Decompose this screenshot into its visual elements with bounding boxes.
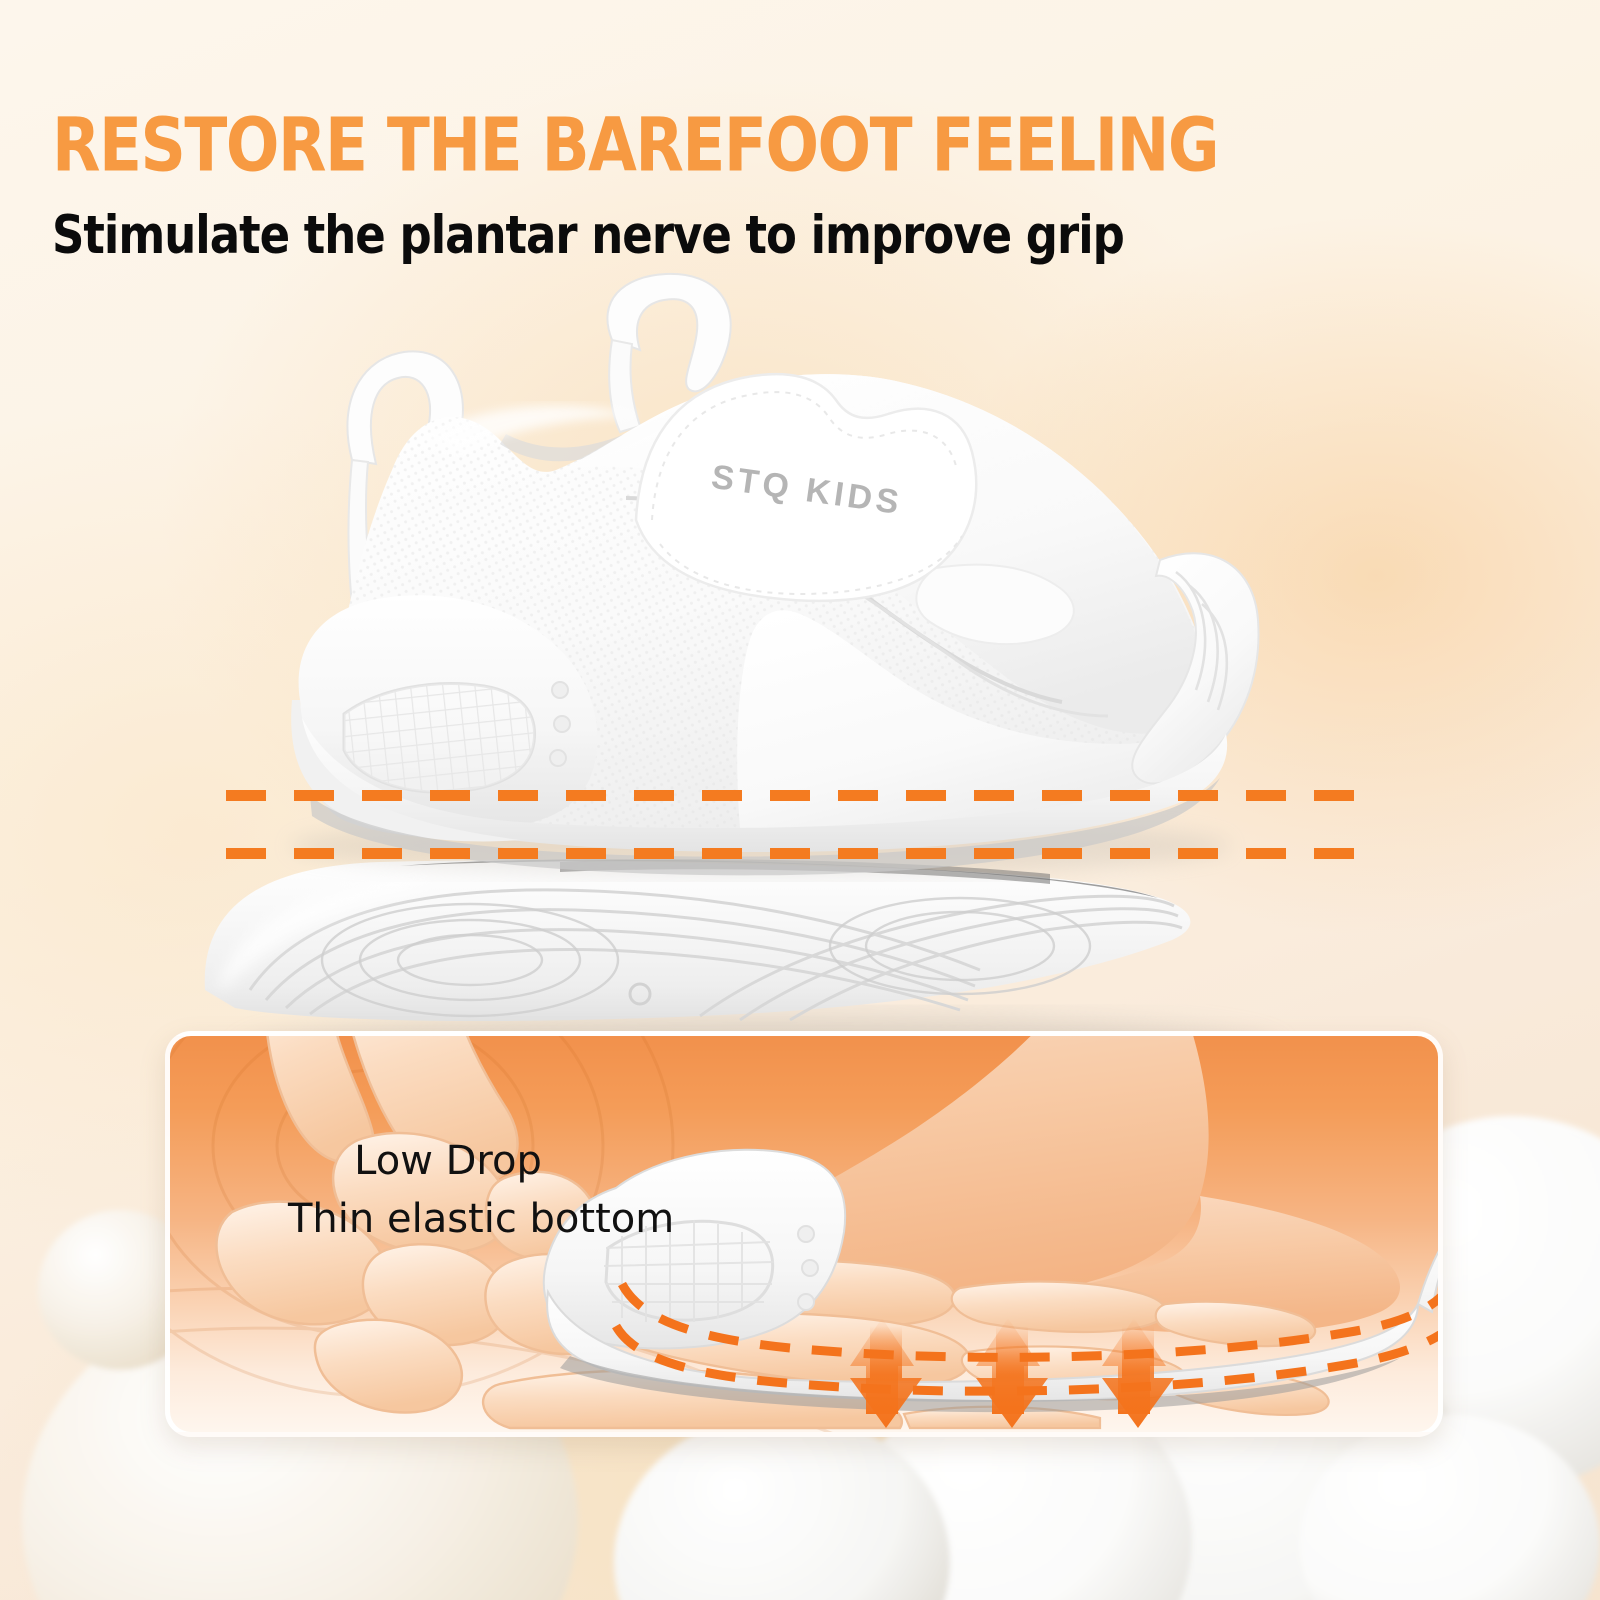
- arrow-down-icon: [1102, 1326, 1174, 1428]
- promo-graphic: RESTORE THE BAREFOOT FEELING Stimulate t…: [0, 0, 1600, 1600]
- arrow-down-icon: [976, 1326, 1048, 1428]
- low-drop-panel: Low Drop Thin elastic bottom: [165, 1031, 1443, 1437]
- arrow-down-icon: [850, 1326, 922, 1428]
- panel-line-1: Low Drop: [288, 1132, 608, 1190]
- guide-line-lower: [226, 848, 1356, 859]
- guide-line-upper: [226, 790, 1356, 801]
- panel-line-2: Thin elastic bottom: [288, 1190, 674, 1248]
- panel-caption: Low Drop Thin elastic bottom: [288, 1132, 674, 1248]
